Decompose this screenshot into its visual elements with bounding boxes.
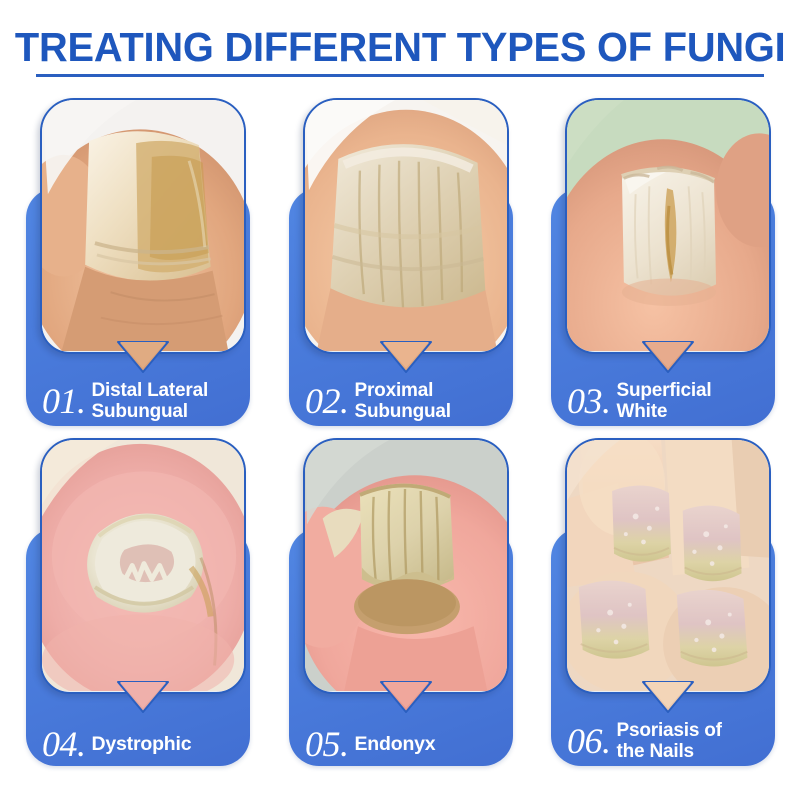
card-title-line: the Nails — [617, 741, 722, 762]
bubble-tail — [303, 682, 509, 716]
page-title: TREATING DIFFERENT TYPES OF FUNGI — [15, 24, 786, 70]
card-title-line: Subungual — [355, 401, 451, 422]
nail-photo-endonyx — [305, 440, 507, 691]
fungi-type-card[interactable]: 03. Superficial White — [549, 96, 777, 436]
card-label: 03. Superficial White — [557, 380, 769, 422]
card-title: Superficial White — [617, 380, 712, 422]
infographic-page: TREATING DIFFERENT TYPES OF FUNGI — [0, 0, 800, 800]
card-photo-bubble — [565, 98, 771, 354]
nail-photo-proximal-subungual — [305, 100, 507, 351]
bubble-tail — [565, 342, 771, 376]
fungi-type-card[interactable]: 02. Proximal Subungual — [287, 96, 515, 436]
card-title-line: White — [617, 401, 712, 422]
card-title-line: Psoriasis of — [617, 720, 722, 741]
card-label: 02. Proximal Subungual — [295, 380, 507, 422]
fungi-type-card-grid: 01. Distal Lateral Subungual — [0, 96, 800, 796]
card-title-line: Distal Lateral — [92, 380, 209, 401]
card-title-line: Endonyx — [355, 734, 436, 755]
card-photo-bubble — [565, 438, 771, 694]
bubble-tail — [565, 682, 771, 716]
card-number: 03. — [567, 383, 611, 419]
card-title: Distal Lateral Subungual — [92, 380, 209, 422]
card-label: 04. Dystrophic — [32, 726, 244, 762]
card-label: 06. Psoriasis of the Nails — [557, 720, 769, 762]
card-title-line: Proximal — [355, 380, 451, 401]
nail-photo-psoriasis — [567, 440, 769, 691]
bubble-tail — [303, 342, 509, 376]
bubble-tail — [40, 682, 246, 716]
fungi-type-card[interactable]: 06. Psoriasis of the Nails — [549, 436, 777, 776]
card-number: 02. — [305, 383, 349, 419]
nail-photo-distal-lateral-subungual — [42, 100, 244, 351]
fungi-type-card[interactable]: 05. Endonyx — [287, 436, 515, 776]
card-title: Dystrophic — [92, 734, 192, 755]
card-label: 01. Distal Lateral Subungual — [32, 380, 244, 422]
header: TREATING DIFFERENT TYPES OF FUNGI — [0, 24, 800, 70]
card-photo-bubble — [303, 438, 509, 694]
card-photo-bubble — [303, 98, 509, 354]
card-title-line: Superficial — [617, 380, 712, 401]
card-label: 05. Endonyx — [295, 726, 507, 762]
nail-photo-superficial-white — [567, 100, 769, 351]
card-number: 06. — [567, 723, 611, 759]
card-photo-bubble — [40, 438, 246, 694]
card-number: 04. — [42, 726, 86, 762]
card-title: Psoriasis of the Nails — [617, 720, 722, 762]
card-number: 05. — [305, 726, 349, 762]
card-number: 01. — [42, 383, 86, 419]
card-title-line: Subungual — [92, 401, 209, 422]
fungi-type-card[interactable]: 04. Dystrophic — [24, 436, 252, 776]
card-title: Endonyx — [355, 734, 436, 755]
card-photo-bubble — [40, 98, 246, 354]
nail-photo-dystrophic — [42, 440, 244, 691]
title-underline-rule — [36, 74, 764, 77]
fungi-type-card[interactable]: 01. Distal Lateral Subungual — [24, 96, 252, 436]
card-title: Proximal Subungual — [355, 380, 451, 422]
card-title-line: Dystrophic — [92, 734, 192, 755]
bubble-tail — [40, 342, 246, 376]
